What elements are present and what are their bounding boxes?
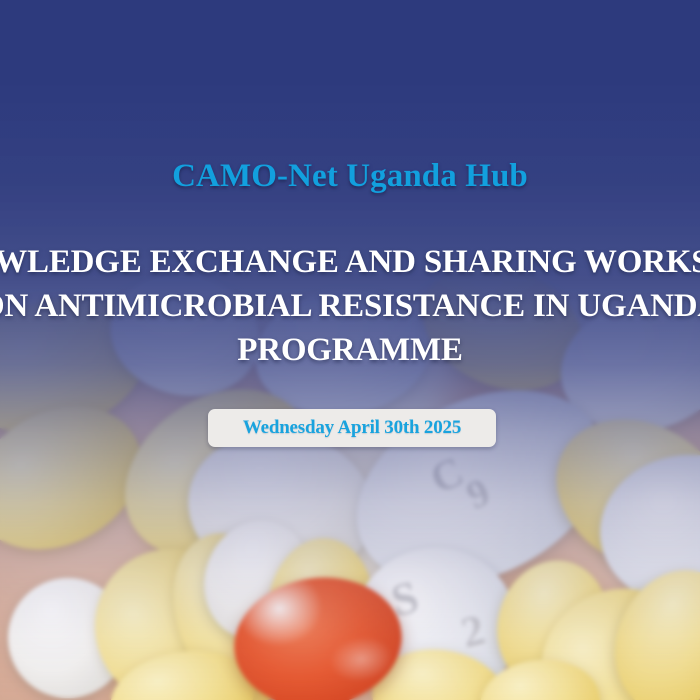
event-heading-line-3: PROGRAMME [0,328,700,372]
event-heading: KNOWLEDGE EXCHANGE AND SHARING WORKSHOP … [0,240,700,372]
event-date-label: Wednesday April 30th 2025 [243,417,461,439]
event-date-badge: Wednesday April 30th 2025 [208,409,496,447]
hero-content: CAMO-Net Uganda Hub KNOWLEDGE EXCHANGE A… [0,0,700,700]
hub-title: CAMO-Net Uganda Hub [0,158,700,195]
event-heading-line-2: ON ANTIMICROBIAL RESISTANCE IN UGANDA [0,284,700,328]
event-heading-line-1: KNOWLEDGE EXCHANGE AND SHARING WORKSHOP [0,240,700,284]
event-hero-banner: C 9 S 2 CAMO-Net Uganda Hub KNOWLEDGE EX… [0,0,700,700]
